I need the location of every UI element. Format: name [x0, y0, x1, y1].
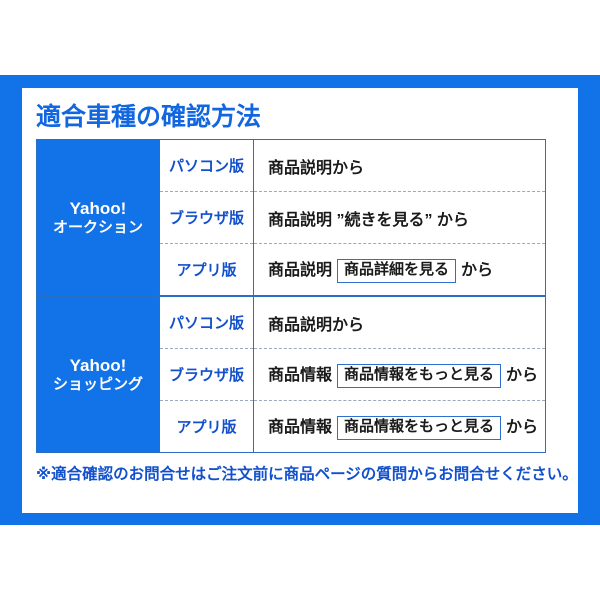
instruction-text: から	[506, 367, 538, 384]
instruction-text: 商品説明	[268, 262, 332, 279]
device-type-cell: パソコン版	[160, 296, 254, 349]
instruction-cell: 商品説明商品詳細を見るから	[254, 244, 546, 297]
screenshot-stage: 適合車種の確認方法 Yahoo!オークションパソコン版商品説明からブラウザ版商品…	[0, 0, 600, 600]
info-card: 適合車種の確認方法 Yahoo!オークションパソコン版商品説明からブラウザ版商品…	[22, 88, 578, 513]
device-type-cell: ブラウザ版	[160, 192, 254, 244]
instruction-button-label[interactable]: 商品情報をもっと見る	[337, 416, 501, 440]
instruction-cell: 商品説明 ”続きを見る” から	[254, 192, 546, 244]
page-title: 適合車種の確認方法	[22, 88, 578, 139]
instruction-text: 商品情報	[268, 367, 332, 384]
brand-name-primary: Yahoo!	[37, 356, 159, 376]
blue-outer-frame: 適合車種の確認方法 Yahoo!オークションパソコン版商品説明からブラウザ版商品…	[0, 75, 600, 525]
instruction-text: から	[461, 262, 493, 279]
device-type-cell: アプリ版	[160, 244, 254, 297]
instruction-text: 商品説明から	[268, 160, 364, 177]
instruction-cell: 商品説明から	[254, 296, 546, 349]
compatibility-table: Yahoo!オークションパソコン版商品説明からブラウザ版商品説明 ”続きを見る”…	[36, 139, 546, 453]
instruction-text: 商品説明 ”続きを見る” から	[268, 212, 469, 229]
device-type-cell: アプリ版	[160, 401, 254, 453]
instruction-button-label[interactable]: 商品詳細を見る	[337, 259, 456, 283]
table-row: Yahoo!オークションパソコン版商品説明から	[37, 140, 546, 192]
device-type-cell: パソコン版	[160, 140, 254, 192]
instruction-cell: 商品情報商品情報をもっと見るから	[254, 401, 546, 453]
instruction-text: 商品情報	[268, 419, 332, 436]
instruction-cell: 商品情報商品情報をもっと見るから	[254, 349, 546, 401]
instruction-text: 商品説明から	[268, 317, 364, 334]
footnote-text: ※適合確認のお問合せはご注文前に商品ページの質問からお問合せください。	[22, 453, 578, 484]
brand-cell: Yahoo!オークション	[37, 140, 160, 297]
instruction-text: から	[506, 419, 538, 436]
instruction-button-label[interactable]: 商品情報をもっと見る	[337, 364, 501, 388]
compatibility-table-body: Yahoo!オークションパソコン版商品説明からブラウザ版商品説明 ”続きを見る”…	[37, 140, 546, 453]
device-type-cell: ブラウザ版	[160, 349, 254, 401]
brand-name-secondary: オークション	[37, 219, 159, 236]
brand-name-secondary: ショッピング	[37, 376, 159, 393]
brand-name-primary: Yahoo!	[37, 199, 159, 219]
table-row: Yahoo!ショッピングパソコン版商品説明から	[37, 296, 546, 349]
brand-cell: Yahoo!ショッピング	[37, 296, 160, 453]
instruction-cell: 商品説明から	[254, 140, 546, 192]
